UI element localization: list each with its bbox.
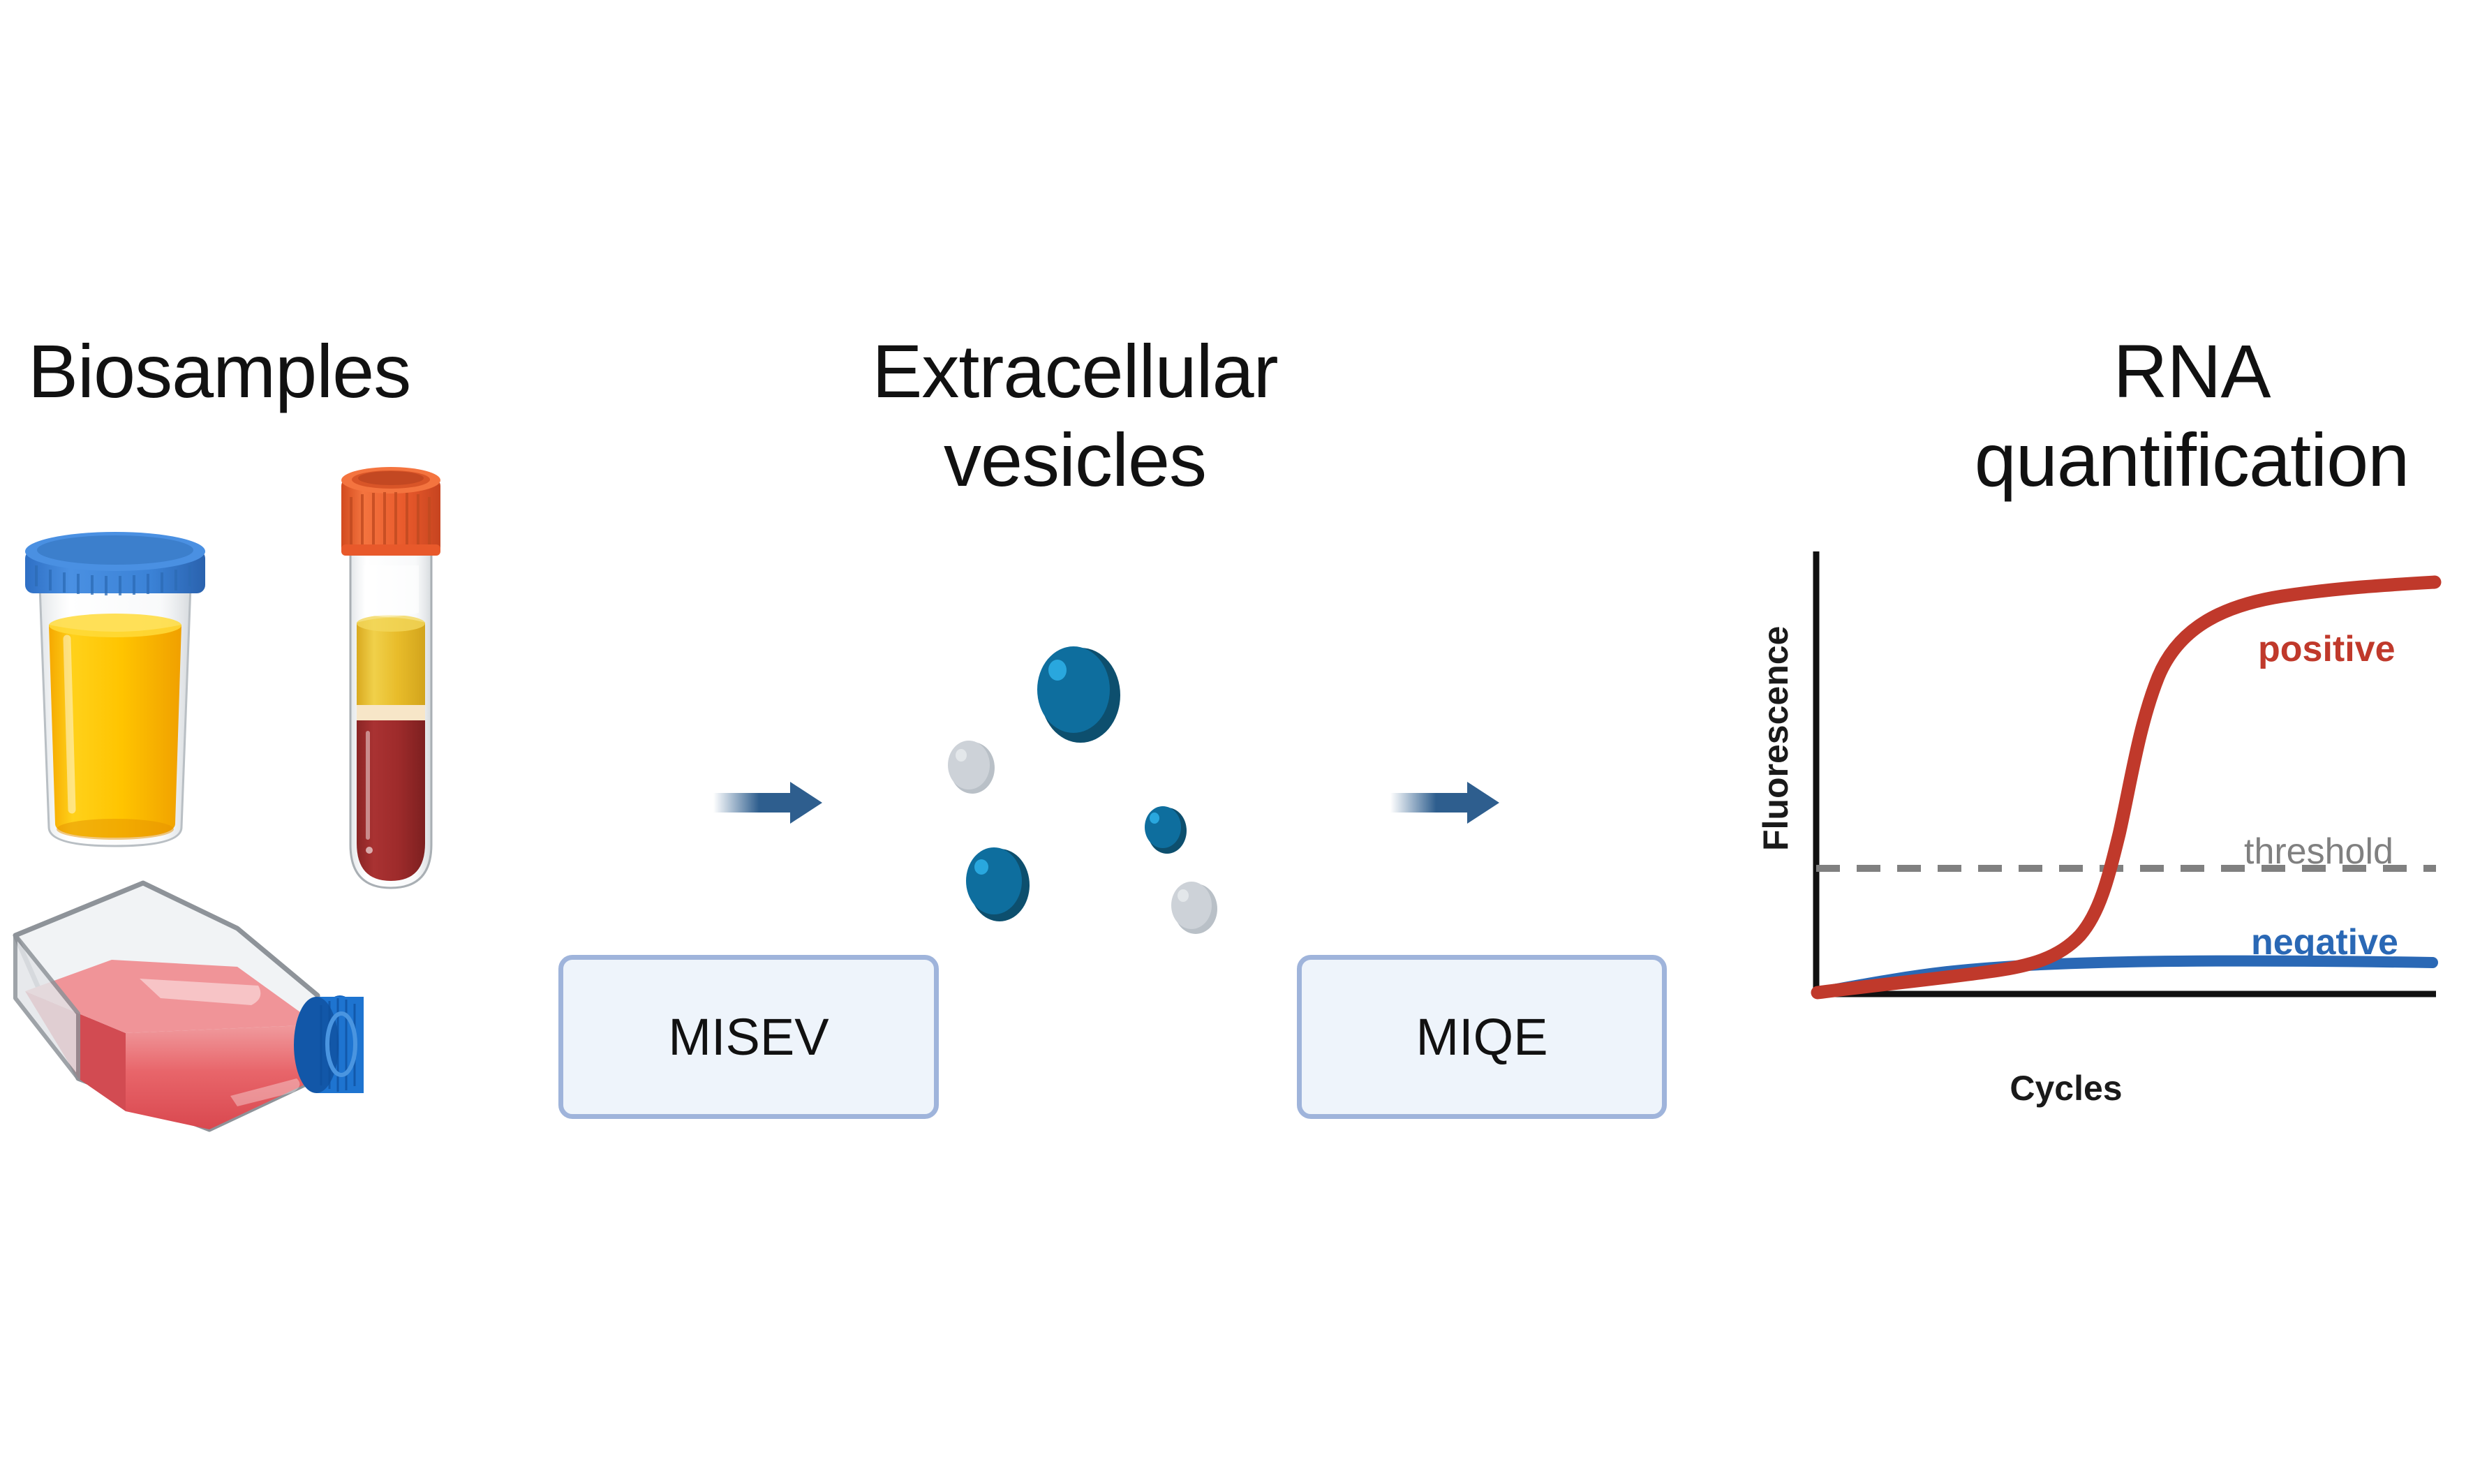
workflow-diagram: Biosamples Extracellular vesicles RNA qu… [0,0,2473,1484]
chart-plot [1731,517,2473,1131]
arrow-ev-to-rna [1382,754,1557,852]
urine-specimen-cup [25,532,205,846]
y-axis-label: Fluorescence [1755,641,1796,851]
blood-collection-tube [341,467,440,888]
title-line-2: quantification [1913,415,2471,504]
page-title-rna-quantification: RNA quantification [1913,327,2471,505]
vesicle-small-gray-left [948,741,995,794]
title-line-1: Extracellular [824,327,1326,415]
cell-culture-flask [15,883,364,1129]
x-axis-label: Cycles [1961,1068,2171,1108]
vesicle-small-gray-right [1171,882,1217,934]
arrow-biosamples-to-ev [712,754,886,852]
title-line-1: RNA [1913,327,2471,415]
page-title-extracellular-vesicles: Extracellular vesicles [824,327,1326,505]
vesicle-large-top [1037,646,1120,743]
standard-box-misev[interactable]: MISEV [558,955,939,1119]
negative-curve-label: negative [2251,921,2398,963]
biosamples-illustration [0,447,489,1194]
title-line-2: vesicles [824,415,1326,504]
standard-box-miqe[interactable]: MIQE [1297,955,1667,1119]
page-title-biosamples: Biosamples [28,327,391,415]
threshold-label: threshold [2244,831,2393,873]
qpcr-amplification-chart: Fluorescence Cycles positive threshold n… [1731,517,2473,1131]
buffy-coat [357,705,425,720]
vesicle-small-blue-right [1145,806,1187,854]
positive-curve-label: positive [2258,628,2396,670]
vesicle-medium-bottom-left [966,847,1030,921]
extracellular-vesicles-illustration [907,600,1270,963]
